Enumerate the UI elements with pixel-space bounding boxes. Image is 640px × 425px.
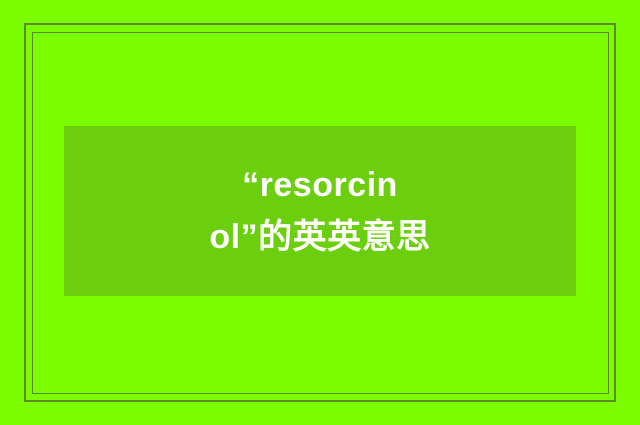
title-card: “resorcin ol”的英英意思 <box>0 0 640 425</box>
page-title: “resorcin ol”的英英意思 <box>64 159 576 263</box>
content-panel: “resorcin ol”的英英意思 <box>64 126 576 296</box>
